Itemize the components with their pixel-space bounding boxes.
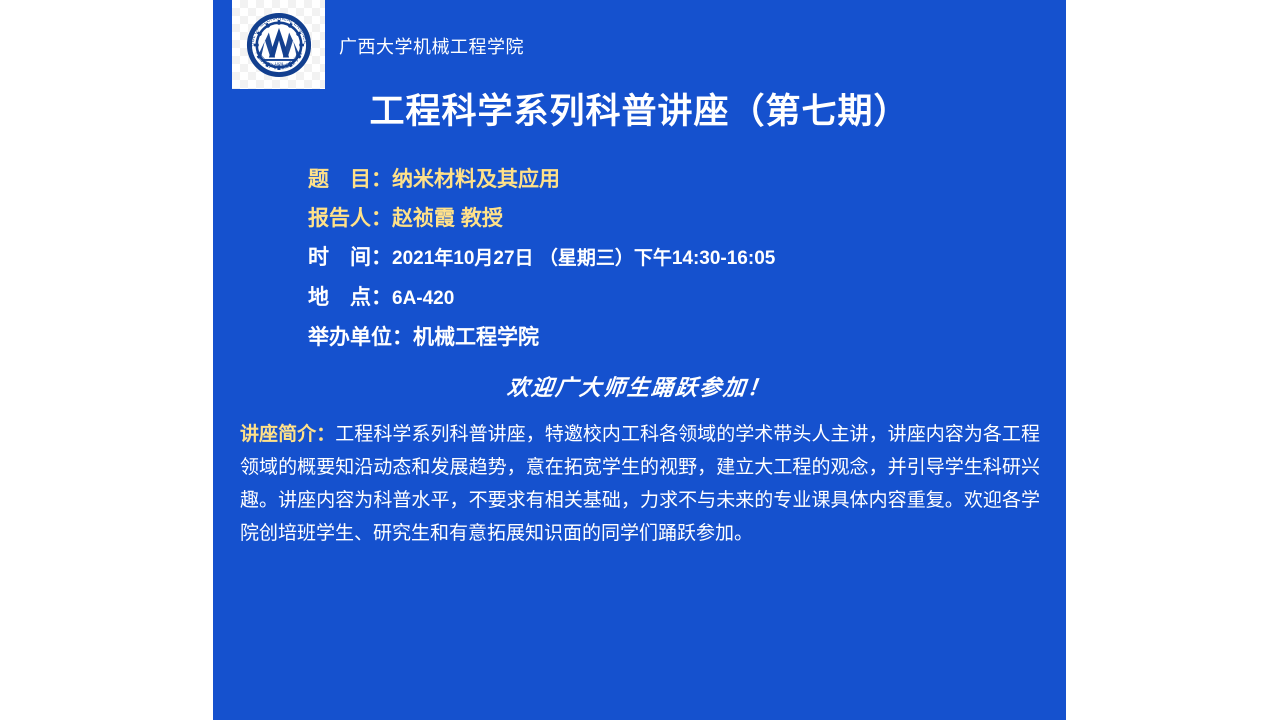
school-name-label: 广西大学机械工程学院 [339, 38, 524, 56]
info-row-organizer: 举办单位：机械工程学院 [308, 318, 1028, 357]
header: SCHOOL OF MECHANICAL ENGINEERING 广西大学机械工… [232, 0, 852, 89]
logo-container: SCHOOL OF MECHANICAL ENGINEERING 广西大学机械工… [232, 0, 325, 89]
info-row-time: 时 间：2021年10月27日 （星期三）下午14:30-16:05 [308, 238, 1028, 278]
info-value-location: 6A-420 [392, 288, 454, 309]
info-row-topic: 题 目：纳米材料及其应用 [308, 160, 1028, 199]
description-label: 讲座简介： [240, 424, 335, 445]
info-value-speaker: 赵祯霞 教授 [392, 207, 503, 230]
info-value-time: 2021年10月27日 （星期三）下午14:30-16:05 [392, 248, 775, 269]
description-body: 工程科学系列科普讲座，特邀校内工科各领域的学术带头人主讲，讲座内容为各工程领域的… [240, 424, 1040, 544]
info-value-topic: 纳米材料及其应用 [392, 168, 560, 191]
info-label-speaker: 报告人： [308, 207, 392, 230]
info-row-speaker: 报告人：赵祯霞 教授 [308, 199, 1028, 238]
school-emblem-icon: SCHOOL OF MECHANICAL ENGINEERING 广西大学机械工… [240, 6, 318, 84]
info-list: 题 目：纳米材料及其应用 报告人：赵祯霞 教授 时 间：2021年10月27日 … [308, 160, 1028, 357]
info-value-organizer: 机械工程学院 [413, 326, 539, 349]
info-label-time: 时 间： [308, 246, 392, 269]
poster-root: SCHOOL OF MECHANICAL ENGINEERING 广西大学机械工… [0, 0, 1280, 720]
info-label-organizer: 举办单位： [308, 326, 413, 349]
svg-text:1928: 1928 [274, 60, 283, 65]
welcome-message: 欢迎广大师生踊跃参加！ [211, 370, 1067, 402]
info-label-topic: 题 目： [308, 168, 392, 191]
info-label-location: 地 点： [308, 286, 392, 309]
slide-panel: SCHOOL OF MECHANICAL ENGINEERING 广西大学机械工… [213, 0, 1066, 720]
page-title: 工程科学系列科普讲座（第七期） [213, 93, 1066, 132]
info-row-location: 地 点：6A-420 [308, 278, 1028, 318]
description-paragraph: 讲座简介：工程科学系列科普讲座，特邀校内工科各领域的学术带头人主讲，讲座内容为各… [240, 418, 1040, 550]
